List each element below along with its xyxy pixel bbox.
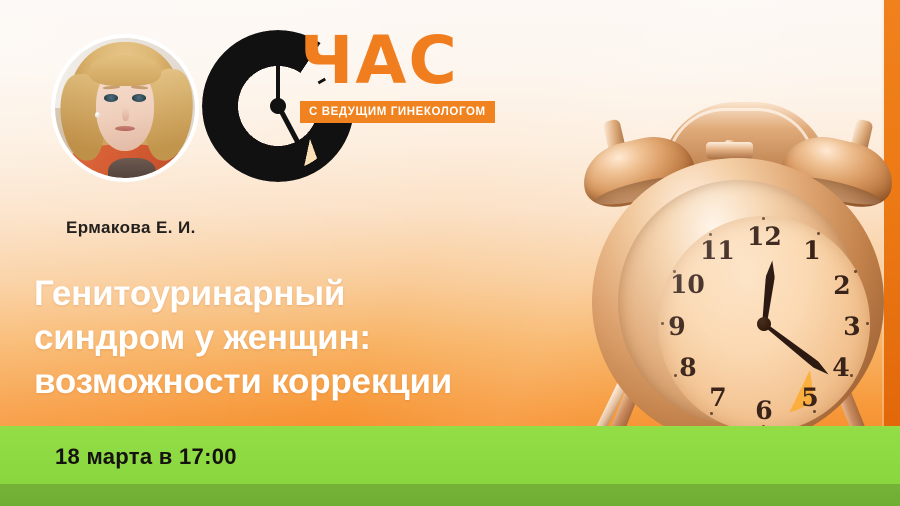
clock-dial: 12 1 2 3 4 5 6 7 8 9 10 11: [658, 216, 870, 432]
clock-numeral: 2: [825, 271, 859, 300]
page-title: Генитоуринарный синдром у женщин: возмож…: [34, 272, 564, 404]
portrait-eye-right: [132, 94, 146, 102]
clock-numeral: 8: [671, 353, 705, 382]
clock-minute-dot: [710, 412, 713, 415]
clock-numeral: 3: [835, 312, 869, 341]
avatar: [55, 38, 195, 178]
clock-center-pin: [757, 317, 771, 331]
clock-minute-dot: [674, 374, 677, 377]
clock-hammer-head: [706, 142, 753, 159]
portrait-eye-left: [104, 94, 118, 102]
portrait-fringe: [89, 55, 162, 86]
clock-minute-dot: [817, 232, 820, 235]
brand-wordmark: ЧАС С ВЕДУЩИМ ГИНЕКОЛОГОМ: [300, 28, 530, 123]
title-line-1: Генитоуринарный: [34, 272, 564, 316]
portrait-nose: [122, 107, 129, 121]
table-edge: [0, 484, 900, 506]
clock-minute-dot: [673, 270, 676, 273]
clock-numeral: 9: [660, 312, 694, 341]
clock-numeral: 6: [747, 396, 781, 425]
clock-minute-dot: [709, 233, 712, 236]
clock-numeral: 11: [700, 236, 734, 265]
webinar-banner: 12 1 2 3 4 5 6 7 8 9 10 11: [0, 0, 900, 506]
portrait-collar: [108, 158, 156, 178]
clock-hour-hand: [760, 260, 777, 325]
clock-case: 12 1 2 3 4 5 6 7 8 9 10 11: [592, 158, 884, 446]
clock-minute-dot: [813, 410, 816, 413]
clock-numeral: 12: [747, 222, 781, 251]
alarm-clock-icon: 12 1 2 3 4 5 6 7 8 9 10 11: [578, 98, 898, 443]
presenter-name: Ермакова Е. И.: [66, 218, 196, 238]
clock-bezel: 12 1 2 3 4 5 6 7 8 9 10 11: [618, 180, 858, 424]
clock-numeral: 5: [793, 383, 827, 412]
presenter-portrait: [55, 38, 195, 178]
clock-numeral: 7: [701, 383, 735, 412]
clock-minute-dot: [854, 270, 857, 273]
title-line-3: возможности коррекции: [34, 360, 564, 404]
logo-center-pin: [270, 98, 286, 114]
schedule-date: 18 марта в 17:00: [55, 444, 237, 470]
brand-tagline: С ВЕДУЩИМ ГИНЕКОЛОГОМ: [300, 101, 495, 123]
clock-minute-dot: [866, 322, 869, 325]
clock-numeral: 4: [824, 353, 858, 382]
clock-minute-dot: [762, 217, 765, 220]
clock-minute-dot: [661, 322, 664, 325]
clock-numeral: 10: [670, 270, 704, 299]
clock-numeral: 1: [795, 236, 829, 265]
title-line-2: синдром у женщин:: [34, 316, 564, 360]
brand-title: ЧАС: [300, 28, 530, 94]
clock-minute-dot: [850, 374, 853, 377]
